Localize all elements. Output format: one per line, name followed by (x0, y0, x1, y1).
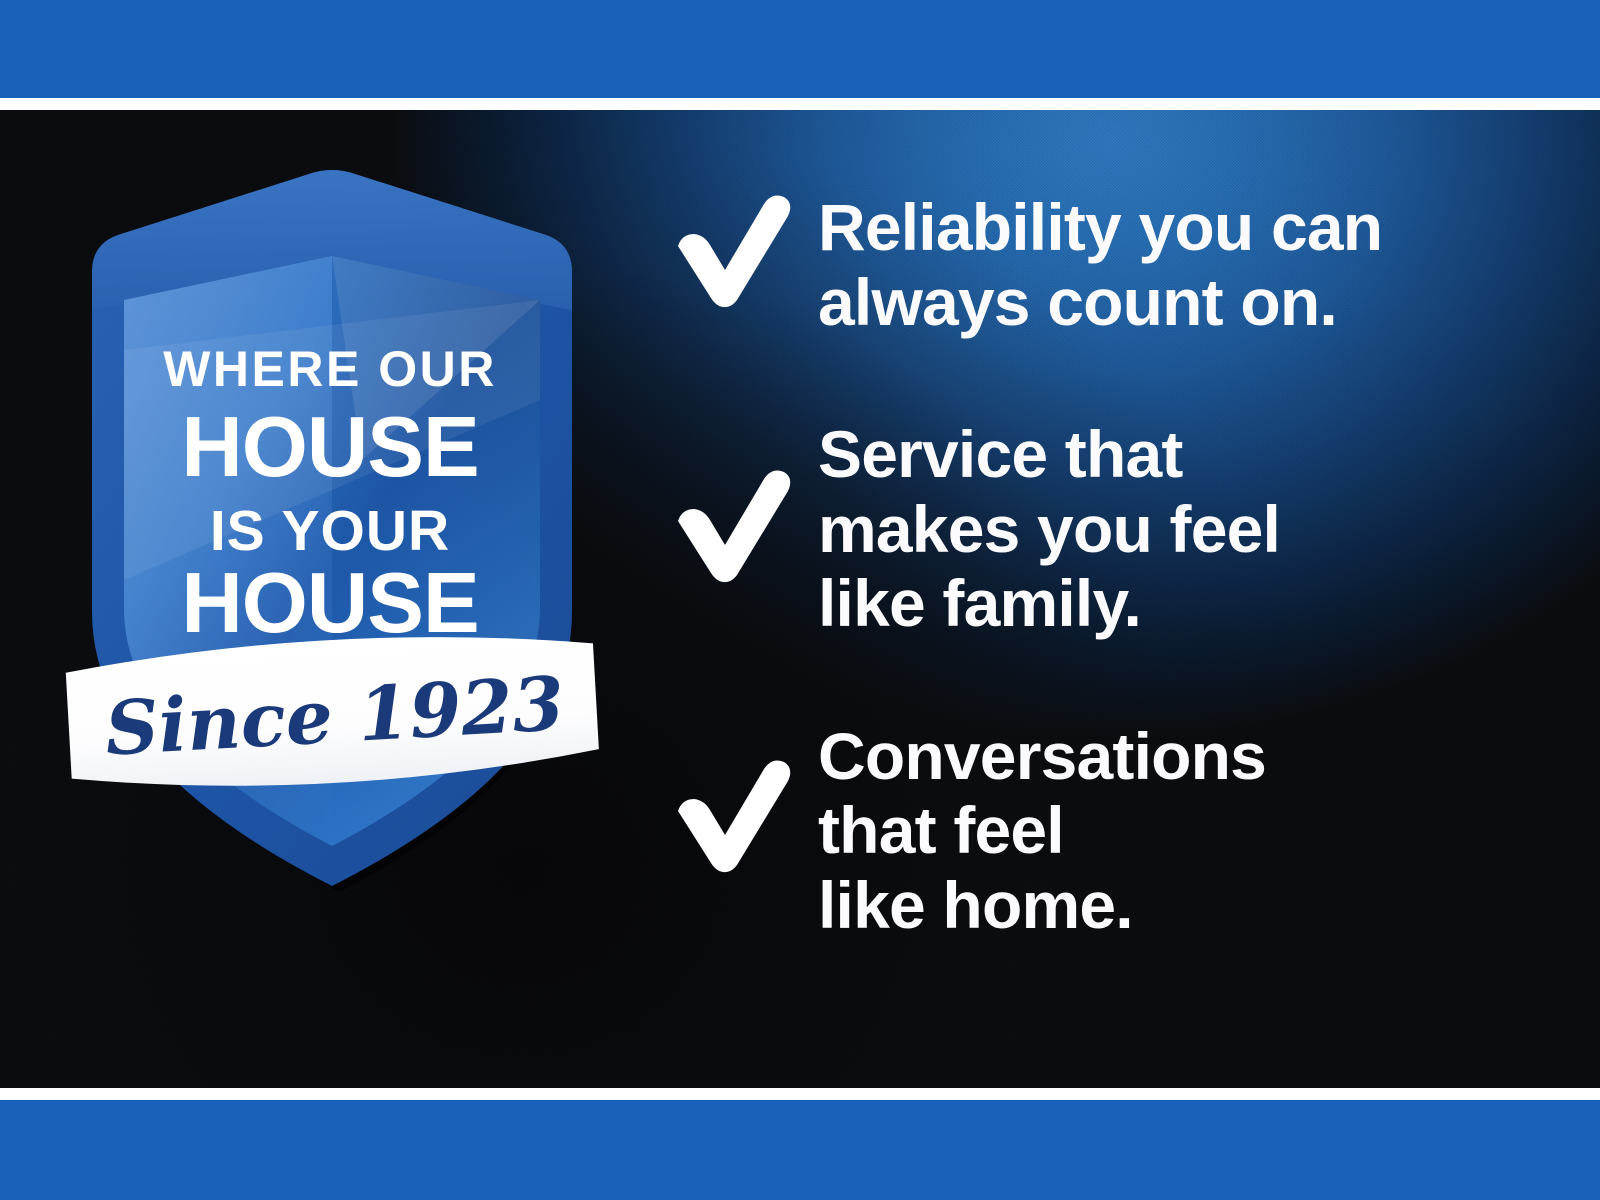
checkmark-icon (668, 465, 796, 583)
badge-line-1: WHERE OUR (163, 341, 497, 397)
badge-line-4: HOUSE (181, 556, 478, 651)
shield-badge: WHERE OUR HOUSE IS YOUR HOUSE Since 1923 (62, 160, 602, 930)
checkmark-icon (668, 190, 796, 308)
badge-line-3: IS YOUR (210, 499, 450, 563)
bottom-brand-bar (0, 1100, 1600, 1200)
list-item: Conversations that feel like home. (668, 715, 1548, 943)
promo-graphic: WHERE OUR HOUSE IS YOUR HOUSE Since 1923… (0, 0, 1600, 1200)
checkmark-icon (668, 755, 796, 873)
list-item: Reliability you can always count on. (668, 186, 1548, 339)
list-item: Service that makes you feel like family. (668, 413, 1548, 641)
top-brand-bar (0, 0, 1600, 98)
benefits-list: Reliability you can always count on. Ser… (668, 186, 1548, 943)
list-item-text: Conversations that feel like home. (818, 715, 1266, 943)
bottom-white-rule (0, 1088, 1600, 1100)
badge-line-2: HOUSE (181, 400, 478, 495)
top-white-rule (0, 98, 1600, 110)
list-item-text: Service that makes you feel like family. (818, 413, 1280, 641)
list-item-text: Reliability you can always count on. (818, 186, 1382, 339)
